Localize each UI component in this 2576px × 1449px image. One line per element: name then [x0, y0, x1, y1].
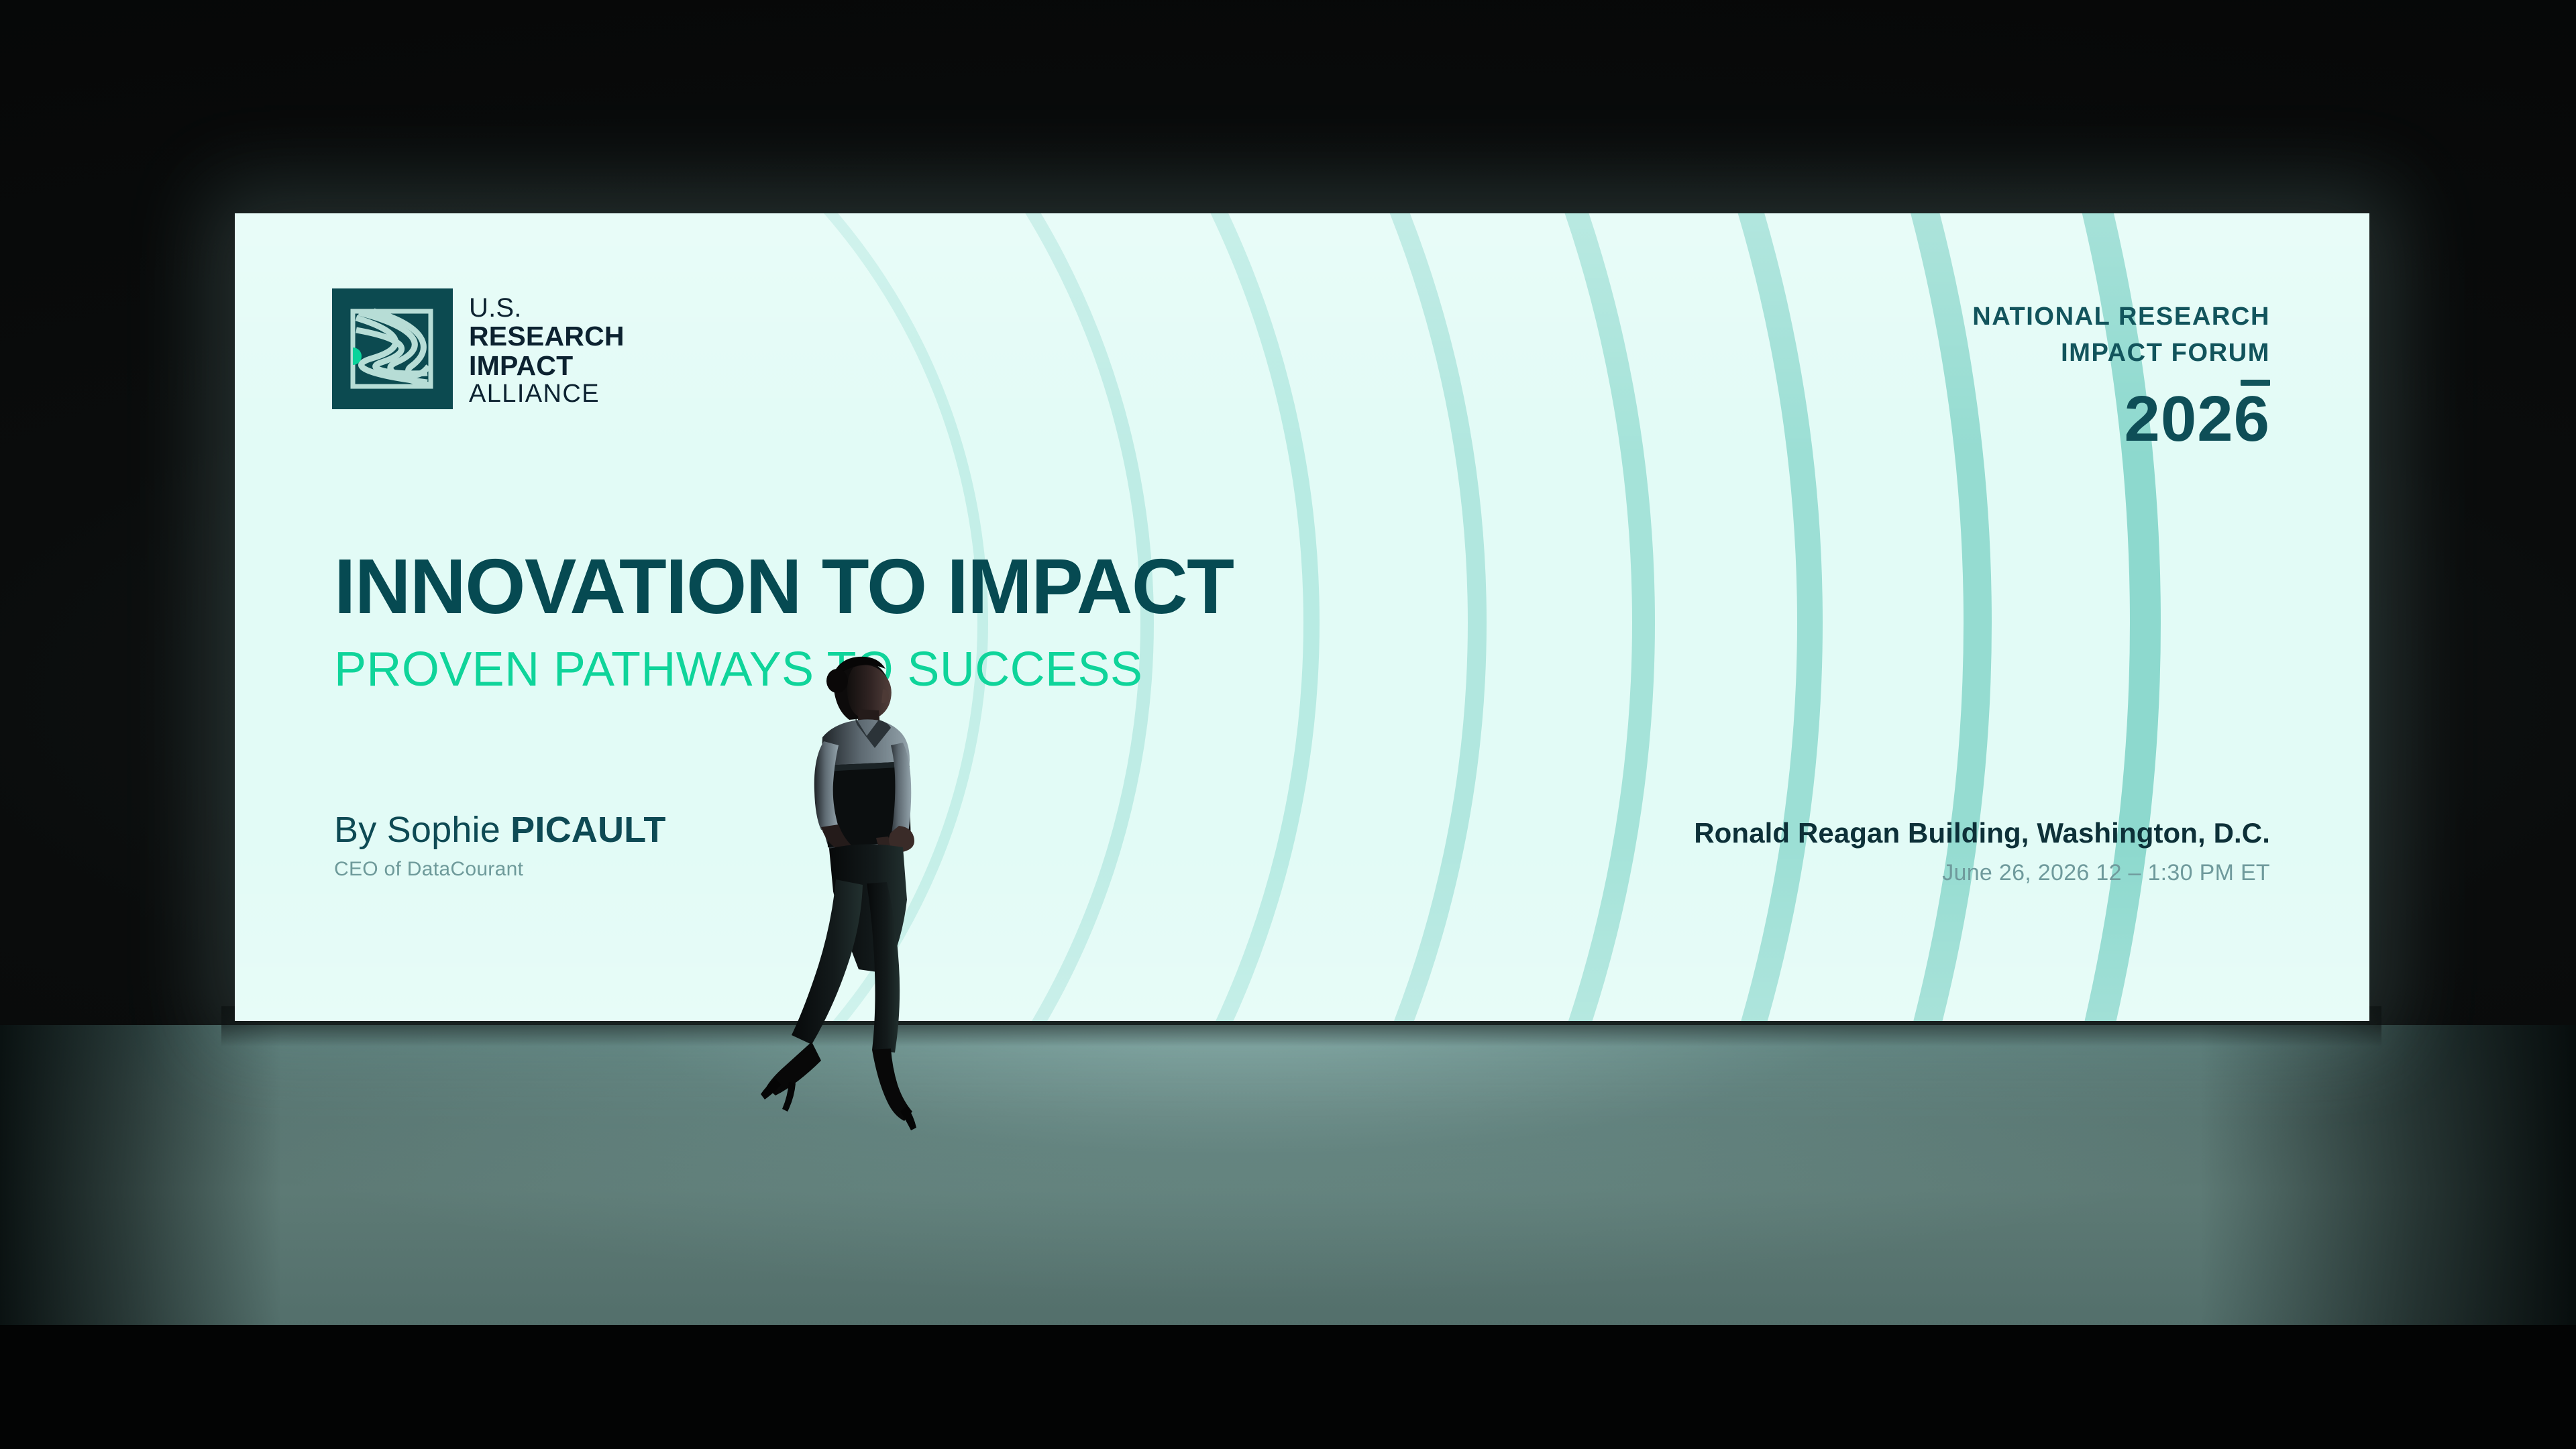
- brand-wordmark: U.S. RESEARCH IMPACT ALLIANCE: [469, 288, 625, 408]
- stage-floor: [0, 1025, 2576, 1327]
- bottom-letterbox-band: [0, 1325, 2576, 1449]
- event-identity-block: NATIONAL RESEARCH IMPACT FORUM 2026: [1972, 299, 2270, 451]
- presenter-role: CEO of DataCourant: [334, 858, 666, 881]
- venue-datetime: June 26, 2026 12 – 1:30 PM ET: [1694, 860, 2270, 886]
- slide-title: INNOVATION TO IMPACT: [334, 547, 1233, 625]
- logo-line-alliance: ALLIANCE: [469, 380, 625, 407]
- brand-logo-lockup[interactable]: U.S. RESEARCH IMPACT ALLIANCE: [332, 288, 625, 409]
- event-name-line-2: IMPACT FORUM: [1972, 335, 2270, 372]
- stage-led-screen[interactable]: U.S. RESEARCH IMPACT ALLIANCE NATIONAL R…: [235, 213, 2369, 1021]
- presenter-byline: By Sophie PICAULT: [334, 810, 666, 850]
- logo-line-country: U.S.: [469, 294, 625, 322]
- venue-location: Ronald Reagan Building, Washington, D.C.: [1694, 817, 2270, 849]
- slide-canvas: U.S. RESEARCH IMPACT ALLIANCE NATIONAL R…: [235, 213, 2369, 1021]
- presenter-surname: PICAULT: [511, 810, 665, 850]
- presenter-byline-prefix: By Sophie: [334, 810, 511, 850]
- event-name-line-1: NATIONAL RESEARCH: [1972, 299, 2270, 335]
- logo-line-impact: IMPACT: [469, 352, 625, 380]
- slide-headline-block: INNOVATION TO IMPACT PROVEN PATHWAYS TO …: [334, 547, 1233, 694]
- slide-subtitle: PROVEN PATHWAYS TO SUCCESS: [334, 645, 1233, 694]
- venue-block: Ronald Reagan Building, Washington, D.C.…: [1694, 817, 2270, 886]
- alliance-logomark-icon: [332, 288, 453, 409]
- logo-line-research: RESEARCH: [469, 322, 625, 351]
- stage-room: U.S. RESEARCH IMPACT ALLIANCE NATIONAL R…: [0, 0, 2576, 1449]
- event-year: 2026: [1972, 387, 2270, 451]
- presenter-credit-block: By Sophie PICAULT CEO of DataCourant: [334, 810, 666, 881]
